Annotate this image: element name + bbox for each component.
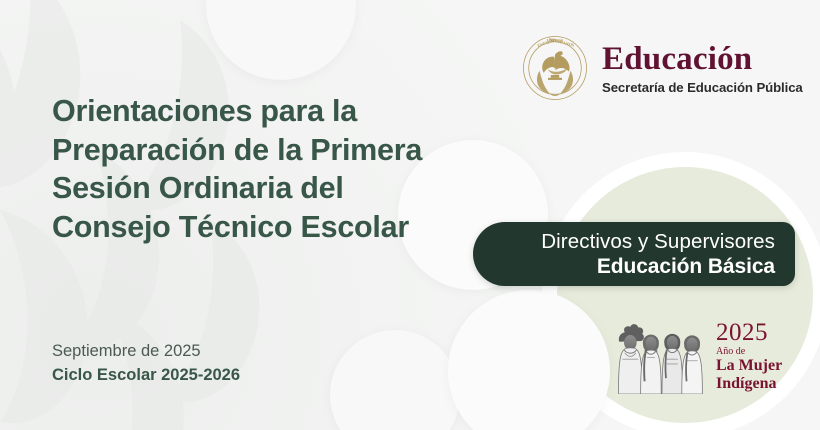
mexican-coat-of-arms-icon: ESTADOS MEXICANOS UNIDOS (520, 33, 590, 103)
page-title: Orientaciones para la Preparación de la … (52, 92, 472, 247)
headline-line-3: Sesión Ordinaria del (52, 169, 472, 208)
audience-badge: Directivos y Supervisores Educación Bási… (473, 222, 795, 286)
audience-badge-line-2: Educación Básica (597, 254, 775, 279)
month-year-text: Septiembre de 2025 (52, 340, 240, 364)
four-indigenous-women-illustration-icon (614, 318, 710, 394)
sep-wordmark: Educación Secretaría de Educación Públic… (602, 41, 803, 95)
audience-badge-line-1: Directivos y Supervisores (541, 229, 775, 254)
year-2025-emblem: 2025 Año de La Mujer Indígena (614, 318, 782, 394)
school-cycle-text: Ciclo Escolar 2025-2026 (52, 364, 240, 388)
emblem-text-block: 2025 Año de La Mujer Indígena (716, 320, 782, 393)
headline-line-1: Orientaciones para la (52, 92, 472, 131)
sep-logo: ESTADOS MEXICANOS UNIDOS Educación Secre… (520, 33, 803, 103)
svg-text:UNIDOS: UNIDOS (547, 38, 564, 43)
sep-title: Educación (602, 43, 803, 77)
emblem-anio-de: Año de (716, 346, 782, 357)
emblem-line-1: La Mujer (716, 357, 782, 375)
date-block: Septiembre de 2025 Ciclo Escolar 2025-20… (52, 340, 240, 388)
banner-root: ESTADOS MEXICANOS UNIDOS Educación Secre… (0, 0, 820, 430)
emblem-line-2: Indígena (716, 375, 782, 393)
headline-line-2: Preparación de la Primera (52, 131, 472, 170)
sep-subtitle: Secretaría de Educación Pública (602, 80, 803, 95)
headline-line-4: Consejo Técnico Escolar (52, 208, 472, 247)
emblem-year: 2025 (716, 320, 782, 345)
